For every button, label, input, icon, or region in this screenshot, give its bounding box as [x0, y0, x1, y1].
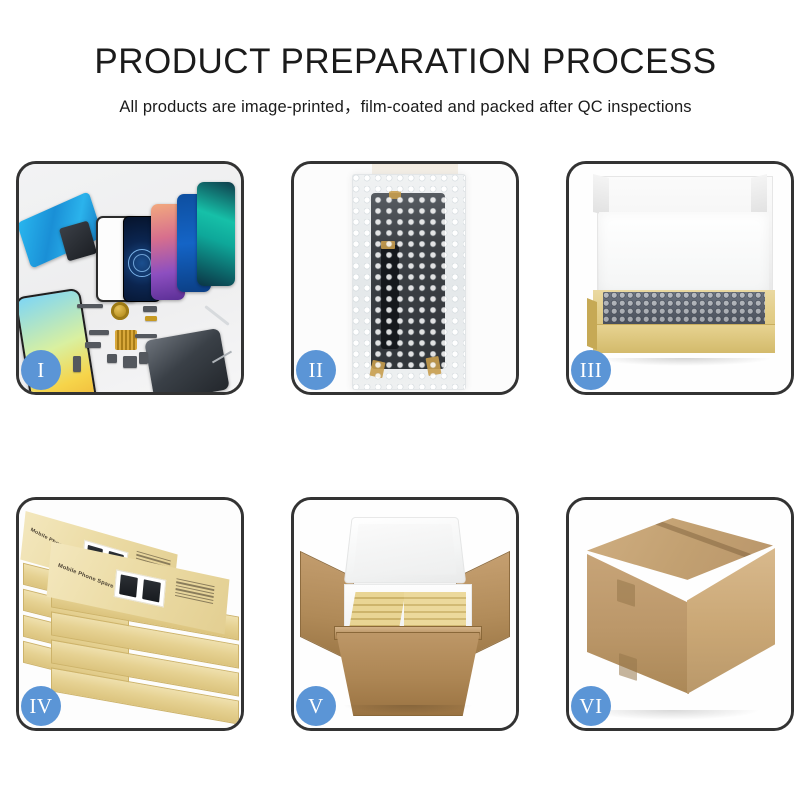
tweezers-tool-icon — [204, 305, 229, 326]
step-badge-3: III — [571, 350, 611, 390]
antenna-flex-part — [135, 334, 157, 338]
speaker-part — [107, 354, 117, 363]
sim-tray-part — [73, 356, 81, 372]
foam-lid-inner — [353, 524, 456, 575]
bubble-wrap-bag — [352, 174, 466, 390]
lid-flap-left — [593, 174, 609, 216]
wrapped-flex-cable — [381, 245, 399, 349]
step-badge-2: II — [296, 350, 336, 390]
page-title: PRODUCT PREPARATION PROCESS — [0, 44, 811, 81]
carton-shadow — [342, 705, 474, 714]
gold-tray-side-face — [587, 298, 597, 350]
gold-tray-front-face — [593, 324, 775, 353]
box-shadow — [595, 358, 773, 366]
carton-tape-seam — [619, 506, 762, 562]
step-badge-5: V — [296, 686, 336, 726]
step-panel-5: V — [291, 497, 519, 731]
step-panel-2: II — [291, 161, 519, 395]
step-panel-4: Mobile Phone Spare Parts Mobile Phone Sp… — [16, 497, 244, 731]
carton-tape-patch-lower — [619, 653, 637, 681]
step-badge-4: IV — [21, 686, 61, 726]
sealed-carton — [579, 518, 783, 708]
white-foam-sheet — [599, 212, 769, 294]
step-panel-3: III — [566, 161, 794, 395]
step-badge-6: VI — [571, 686, 611, 726]
tape-seal-middle — [381, 241, 395, 249]
lid-flap-right — [751, 174, 767, 216]
step-badge-1: I — [21, 350, 61, 390]
gold-connector-grid — [115, 330, 137, 350]
teal-phone — [197, 182, 235, 286]
carton-body — [336, 632, 480, 716]
box-product-photo-lower — [114, 569, 166, 607]
tape-seal-bottom-left — [369, 360, 385, 378]
page-subtitle: All products are image-printed，film-coat… — [0, 93, 811, 117]
step-panel-6: VI — [566, 497, 794, 731]
page-header: PRODUCT PREPARATION PROCESS All products… — [0, 0, 811, 117]
flex-cable-part-b — [145, 316, 157, 321]
camera-module-part — [85, 342, 101, 348]
button-flex-part — [89, 330, 109, 335]
process-steps-grid: I II — [16, 161, 795, 731]
vibrator-part — [123, 356, 137, 368]
box-spec-lines-lower — [175, 578, 215, 604]
step-panel-1: I — [16, 161, 244, 395]
earpiece-mesh-part — [77, 304, 103, 308]
battery-connector-part — [139, 352, 148, 364]
flex-cable-part-a — [143, 306, 157, 312]
tape-seal-top — [389, 191, 401, 199]
bubble-wrapped-contents — [603, 292, 765, 326]
foam-box-lid — [344, 517, 466, 583]
wireless-charging-coil — [111, 302, 129, 320]
